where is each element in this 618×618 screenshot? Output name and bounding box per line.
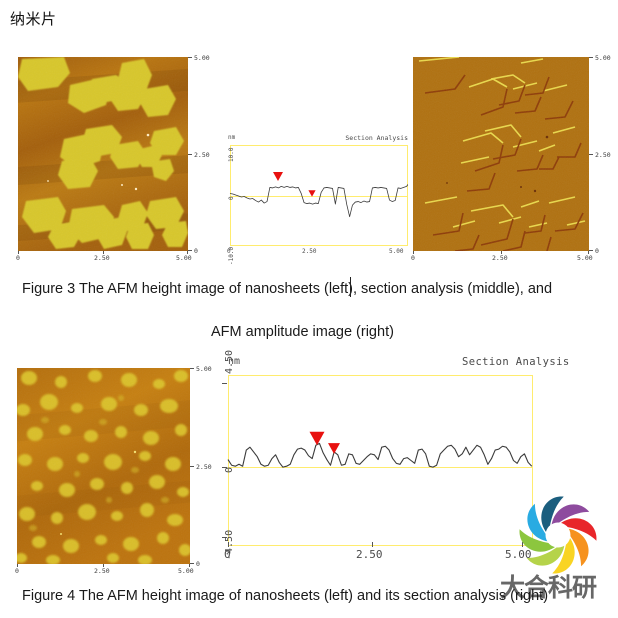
page-title: 纳米片 — [10, 8, 57, 29]
afm-amplitude-image-canvas — [413, 57, 589, 251]
profile-marker-arrow — [310, 432, 325, 446]
x-tick-label: 2.50 — [492, 254, 508, 262]
figure-4-caption: Figure 4 The AFM height image of nanoshe… — [22, 588, 548, 604]
x-tick-label: 5.00 — [178, 567, 194, 575]
y-tick-label: 0 — [194, 247, 198, 255]
x-tick-label: 5.00 — [176, 254, 192, 262]
x-tick-label: 5.00 — [577, 254, 593, 262]
axis-tickmark — [188, 57, 192, 58]
axis-tickmark — [190, 466, 194, 467]
axis-tickmark — [589, 57, 593, 58]
axis-tickmark — [589, 250, 593, 251]
y-tick-label: 5.00 — [196, 365, 212, 373]
x-tick-label: 2.50 — [94, 567, 110, 575]
axis-tickmark — [190, 563, 194, 564]
y-tick-label: 2.50 — [196, 463, 212, 471]
afm-amplitude-image: 0 2.50 5.00 5.00 2.50 0 — [413, 57, 589, 251]
x-tick-label: 0 — [15, 567, 19, 575]
profile-marker-arrow — [328, 443, 340, 454]
afm-height-image: 0 2.50 5.00 5.00 2.50 0 — [17, 368, 190, 564]
y-tick-label: 5.00 — [595, 54, 611, 62]
afm-height-image: 0 2.50 5.00 5.00 2.50 0 — [18, 57, 188, 251]
document-page: 纳米片 — [0, 0, 618, 618]
profile-marker-arrow — [273, 172, 283, 181]
profile-marker-arrow — [308, 190, 315, 196]
afm-height-image-canvas-2 — [17, 368, 190, 564]
y-tick-label: 0 — [595, 247, 599, 255]
axis-tickmark — [190, 368, 194, 369]
figure-3-caption-line-1: Figure 3 The AFM height image of nanoshe… — [22, 281, 552, 297]
axis-tickmark — [188, 250, 192, 251]
figure-3-caption-line-2: AFM amplitude image (right) — [211, 324, 394, 340]
axis-tickmark — [589, 154, 593, 155]
afm-height-image-canvas — [18, 57, 188, 251]
y-tick-label: 2.50 — [595, 151, 611, 159]
x-tick-label: 0 — [411, 254, 415, 262]
y-tick-label: 5.00 — [194, 54, 210, 62]
y-tick-label: 2.50 — [194, 151, 210, 159]
section-profile-trace — [222, 136, 408, 264]
y-tick-label: 0 — [196, 560, 200, 568]
x-tick-label: 0 — [16, 254, 20, 262]
text-cursor — [350, 277, 351, 297]
section-analysis-plot: nm Section Analysis 10.0 0 -10.0 0 2.50 … — [222, 136, 408, 264]
x-tick-label: 2.50 — [94, 254, 110, 262]
axis-tickmark — [188, 154, 192, 155]
